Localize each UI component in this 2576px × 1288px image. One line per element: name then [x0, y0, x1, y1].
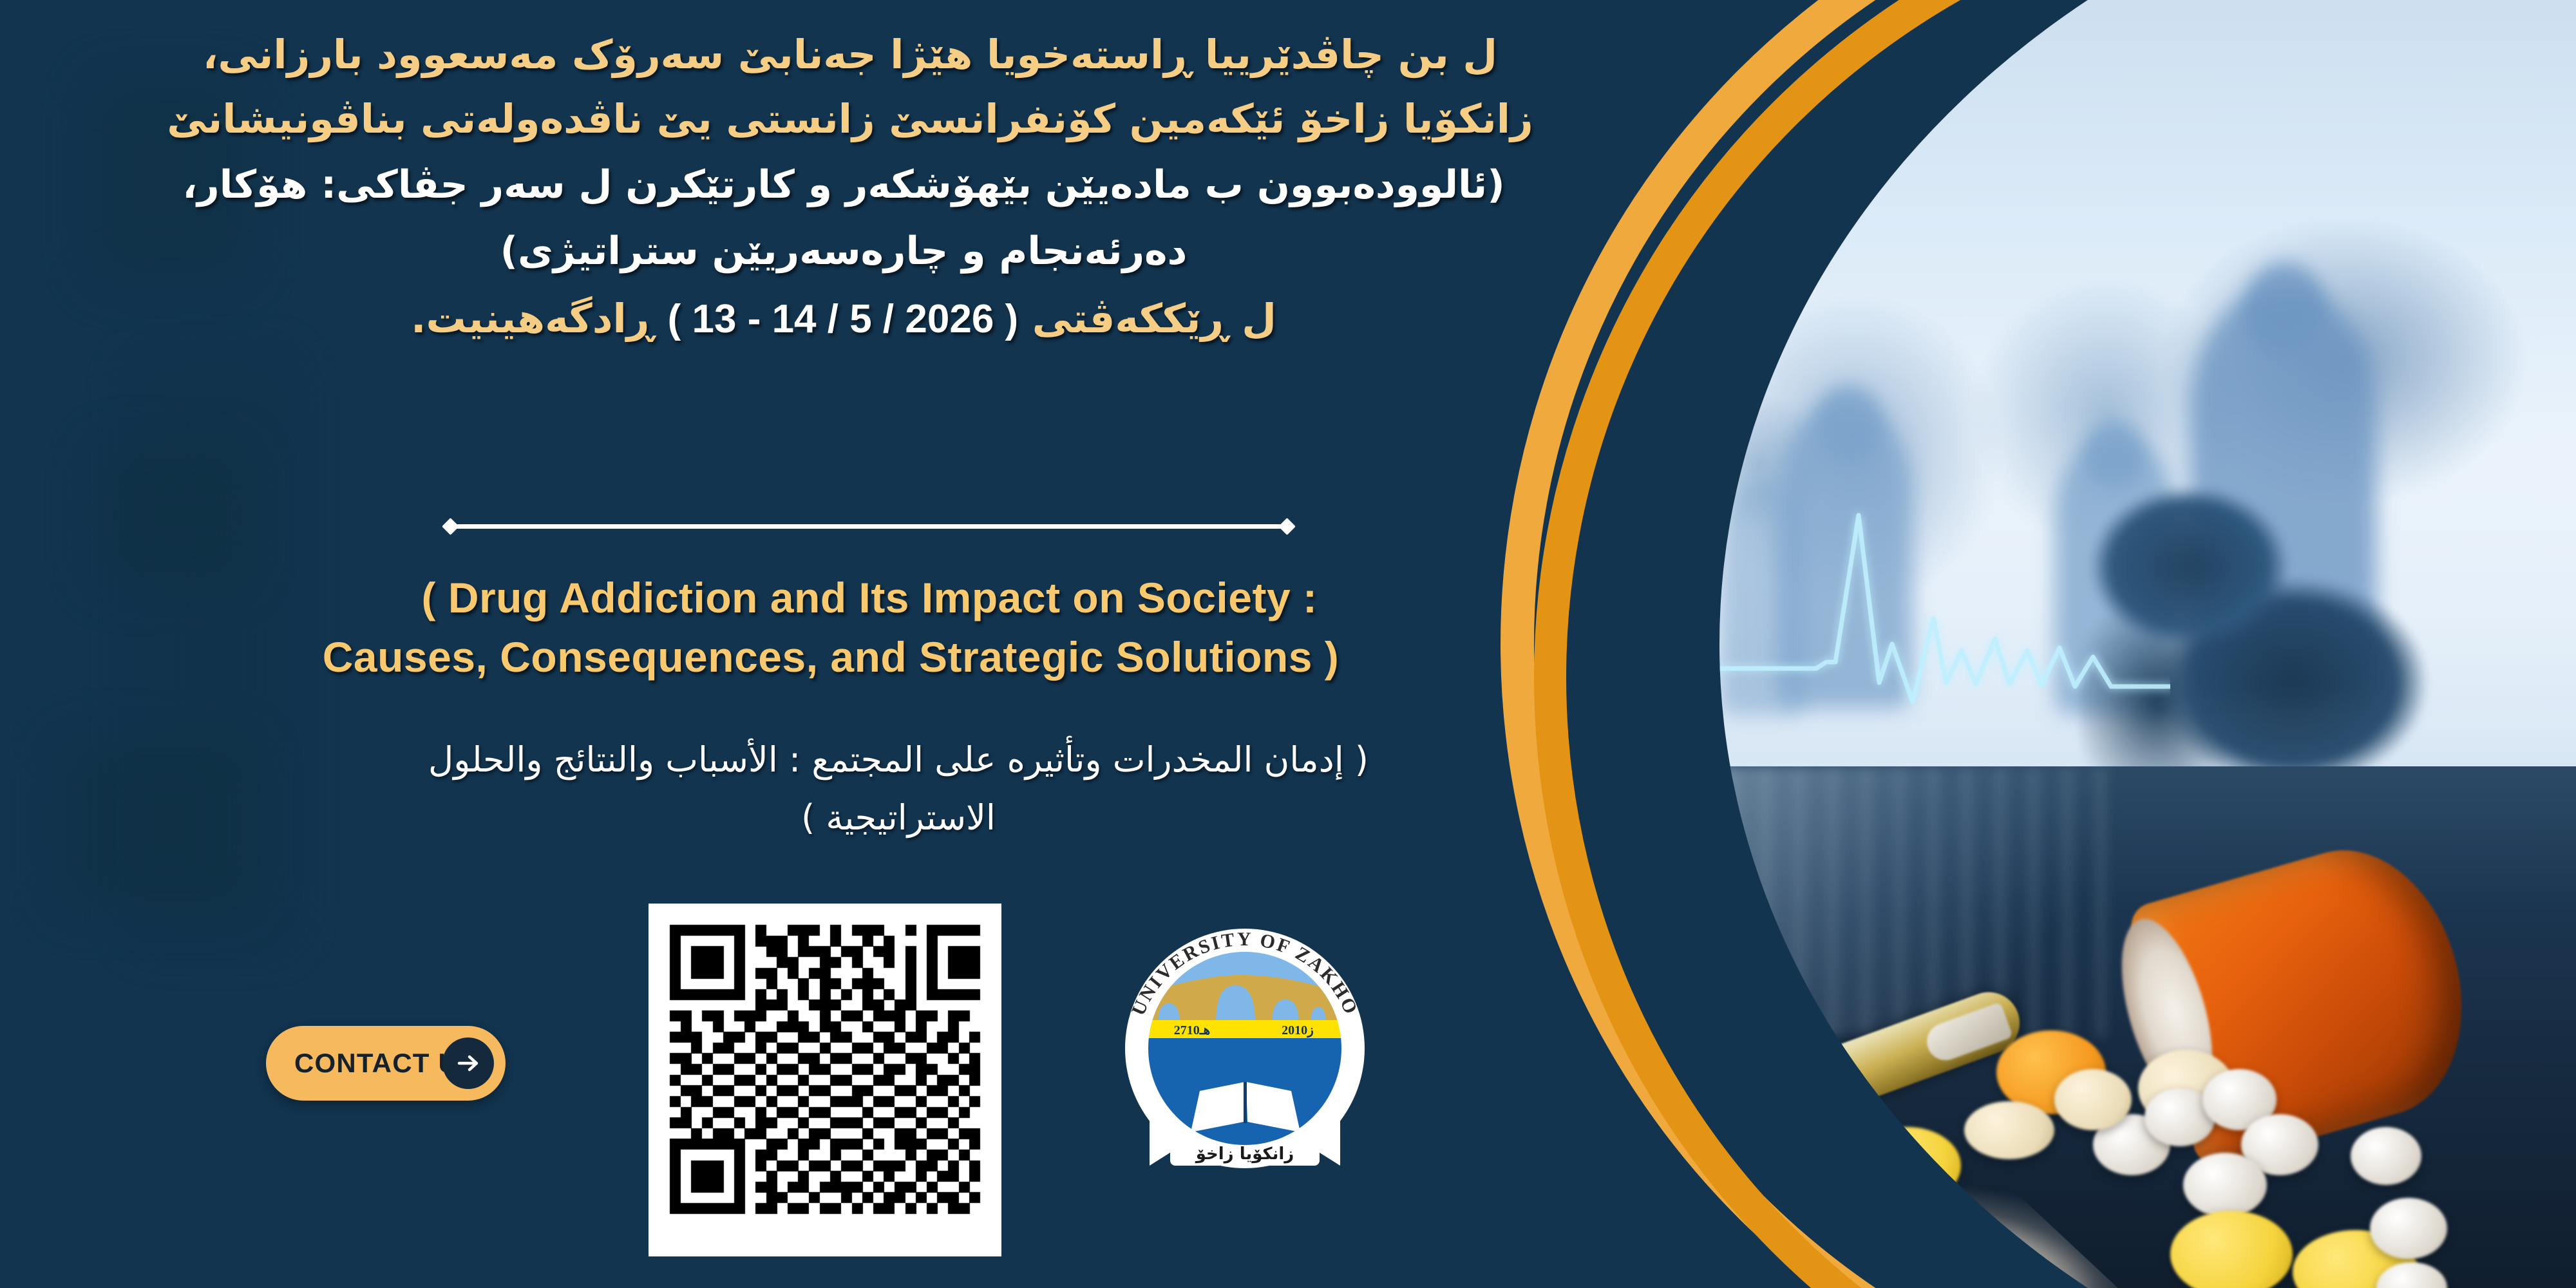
kurdish-title-line-3: (ئالوودەبوون ب مادەیێن بێهۆشکەر و کارتێک…	[116, 162, 1571, 207]
kurdish-title-line-4: دەرئەنجام و چارەسەریێن ستراتیژی)	[348, 229, 1340, 274]
qr-code-icon[interactable]	[649, 904, 1001, 1256]
white-powder-pile	[1732, 1114, 2132, 1288]
kurdish-title-line-1: ل بن چاڤدێرییا ڕاستەخویا هێژا جەنابێ سەر…	[155, 31, 1546, 78]
divider-diamond-right	[1278, 518, 1296, 535]
kurdish-date-prefix: ل ڕێککەڤتی	[1032, 295, 1276, 342]
arabic-title-line-2: الاستراتيجية )	[270, 797, 1526, 838]
pill	[2054, 1069, 2132, 1130]
pills-syringe-powder-photo	[1694, 766, 2576, 1288]
kurdish-title-line-2: زانکۆیا زاخۆ ئێکەمین کۆنفرانسێ زانستی یێ…	[142, 95, 1558, 142]
pill	[2370, 1198, 2447, 1259]
logo-kurdish-name: زانكۆیا زاخۆ	[1195, 1144, 1294, 1164]
logo-date-right: ز2010	[1282, 1023, 1314, 1038]
silhouettes-depression-photo	[1694, 0, 2576, 779]
heartbeat-line-icon	[1707, 489, 2170, 721]
pill	[2170, 1211, 2293, 1288]
conference-date-value: ( 13 - 14 / 5 / 2026 )	[668, 296, 1019, 342]
kurdish-date-line: ل ڕێککەڤتی ( 13 - 14 / 5 / 2026 ) ڕادگەه…	[348, 295, 1340, 342]
decorative-divider	[444, 520, 1293, 532]
contact-us-button[interactable]: CONTACT US	[266, 1026, 506, 1101]
kurdish-date-suffix: ڕادگەهینیت.	[411, 295, 654, 342]
city-skyline-haze	[1694, 766, 2106, 1037]
person-silhouette-head	[1815, 385, 1882, 461]
person-silhouette-head	[2244, 263, 2325, 354]
logo-date-left: ھـ2710	[1174, 1023, 1210, 1037]
photo-panel	[1694, 0, 2576, 1288]
english-title-line-2: Causes, Consequences, and Strategic Solu…	[245, 632, 1417, 681]
divider-bar	[452, 524, 1285, 529]
arabic-title-line-1: ( إدمان المخدرات وتأثيره على المجتمع : ا…	[270, 739, 1526, 780]
university-of-zakho-logo: ھـ2710 ز2010 UNIVERSITY OF ZAKHO زانكۆیا…	[1103, 913, 1387, 1197]
pill	[2183, 1153, 2267, 1217]
english-title-line-1: ( Drug Addiction and Its Impact on Socie…	[283, 573, 1455, 622]
arrow-right-icon	[442, 1037, 494, 1089]
text-content-column: ل بن چاڤدێرییا ڕاستەخویا هێژا جەنابێ سەر…	[0, 0, 1629, 1288]
pill	[2351, 1127, 2421, 1185]
pill	[1964, 1101, 2054, 1159]
conference-banner: ل بن چاڤدێرییا ڕاستەخویا هێژا جەنابێ سەر…	[0, 0, 2576, 1288]
